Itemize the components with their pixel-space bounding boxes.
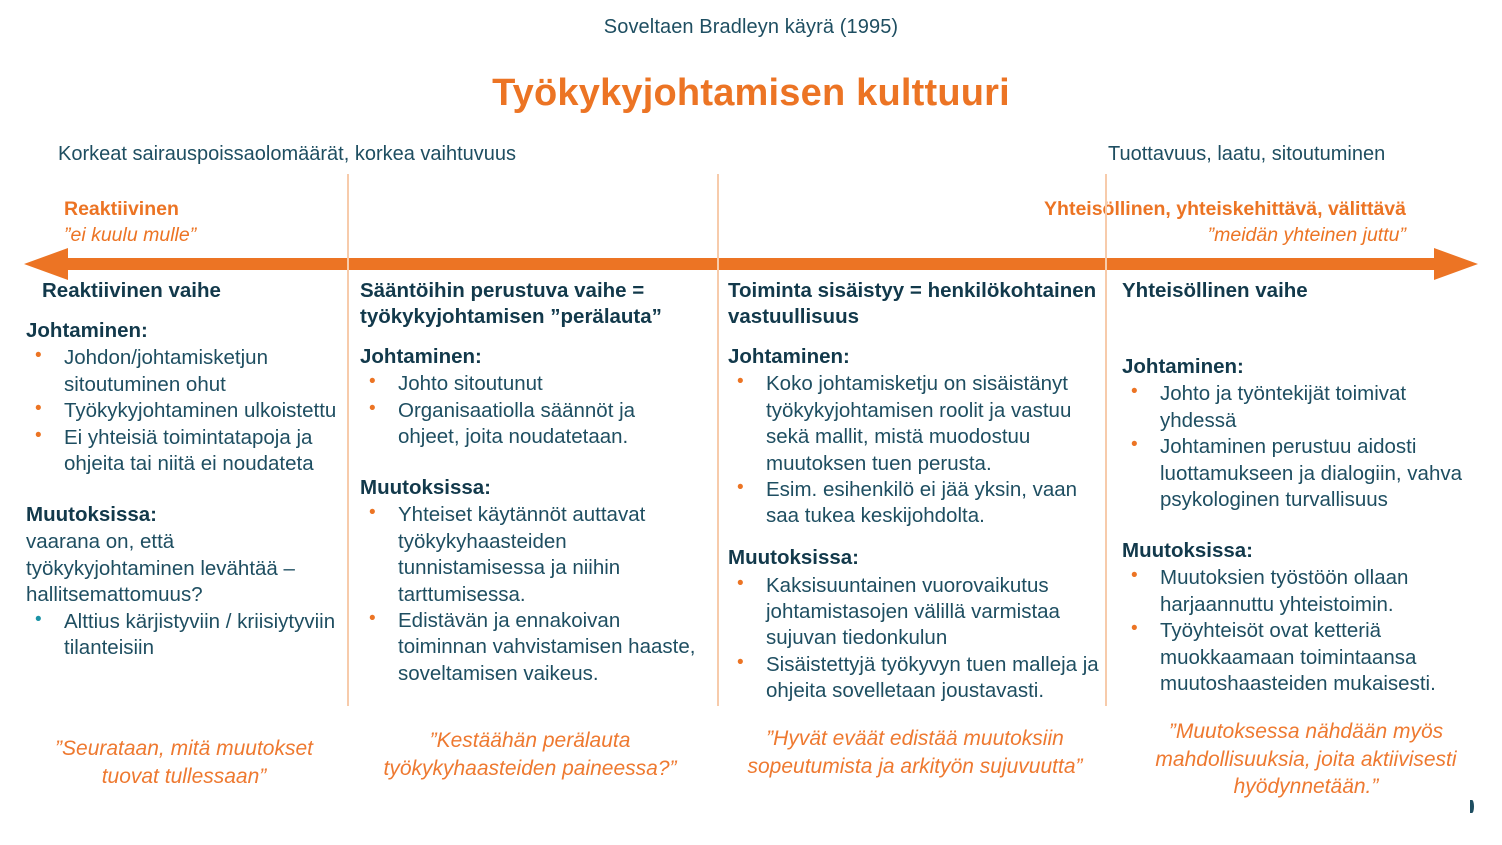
section-title: Johtaminen:: [26, 318, 342, 345]
column-quote-0: ”Seurataan, mitä muutokset tuovat tulles…: [38, 735, 330, 790]
axis-label-left: Korkeat sairauspoissaolomäärät, korkea v…: [58, 143, 516, 166]
stage-column-toiminta-sisaistyy: Toiminta sisäistyy = henkilökohtainen va…: [728, 278, 1100, 705]
slide: Soveltaen Bradleyn käyrä (1995) Työkykyj…: [0, 0, 1502, 845]
pole-left: Reaktiivinen ”ei kuulu mulle”: [64, 196, 196, 248]
section-title: Muutoksissa:: [26, 502, 342, 529]
section-johtaminen: Johtaminen: Johto sitoutunut Organisaati…: [360, 344, 700, 451]
section-muutoksissa: Muutoksissa: Muutoksien työstöön ollaan …: [1122, 538, 1486, 698]
section-title: Muutoksissa:: [728, 545, 1100, 572]
section-muutoksissa: Muutoksissa: vaarana on, että työkykyjoh…: [26, 502, 342, 662]
pole-right: Yhteisöllinen, yhteiskehittävä, välittäv…: [1044, 196, 1406, 248]
section-title: Johtaminen:: [1122, 354, 1486, 381]
stage-column-yhteisollinen: Yhteisöllinen vaihe Johtaminen: Johto ja…: [1122, 278, 1486, 697]
list-item: Organisaatiolla säännöt ja ohjeet, joita…: [360, 398, 700, 451]
section-muutoksissa: Muutoksissa: Yhteiset käytännöt auttavat…: [360, 475, 700, 688]
list-item: Yhteiset käytännöt auttavat työkykyhaast…: [360, 502, 700, 608]
list-item: Työyhteisöt ovat ketteriä muokkaamaan to…: [1122, 618, 1486, 697]
bullet-list: Alttius kärjistyviin / kriisiytyviin til…: [26, 609, 342, 662]
list-item: Koko johtamisketju on sisäistänyt työkyk…: [728, 371, 1100, 477]
column-quote-3: ”Muutoksessa nähdään myös mahdollisuuksi…: [1136, 718, 1476, 801]
bullet-list: Koko johtamisketju on sisäistänyt työkyk…: [728, 371, 1100, 530]
column-quote-1: ”Kestäähän perälauta työkykyhaasteiden p…: [370, 727, 690, 782]
corner-artifact-mark: [1470, 800, 1474, 813]
stage-column-reaktiivinen: Reaktiivinen vaihe Johtaminen: Johdon/jo…: [26, 278, 342, 661]
section-johtaminen: Johtaminen: Johdon/johtamisketjun sitout…: [26, 318, 342, 478]
pole-left-quote: ”ei kuulu mulle”: [64, 222, 196, 248]
bullet-list: Johdon/johtamisketjun sitoutuminen ohut …: [26, 345, 342, 477]
list-item: Johto ja työntekijät toimivat yhdessä: [1122, 381, 1486, 434]
section-johtaminen: Johtaminen: Koko johtamisketju on sisäis…: [728, 344, 1100, 530]
list-item: Kaksisuuntainen vuorovaikutus johtamista…: [728, 573, 1100, 652]
pole-right-title: Yhteisöllinen, yhteiskehittävä, välittäv…: [1044, 196, 1406, 222]
pole-left-title: Reaktiivinen: [64, 196, 196, 222]
source-attribution: Soveltaen Bradleyn käyrä (1995): [0, 16, 1502, 39]
section-title: Muutoksissa:: [360, 475, 700, 502]
section-johtaminen: Johtaminen: Johto ja työntekijät toimiva…: [1122, 354, 1486, 514]
bullet-list: Johto ja työntekijät toimivat yhdessä Jo…: [1122, 381, 1486, 513]
bullet-list: Yhteiset käytännöt auttavat työkykyhaast…: [360, 502, 700, 687]
section-muutoksissa: Muutoksissa: Kaksisuuntainen vuorovaikut…: [728, 545, 1100, 705]
list-item: Esim. esihenkilö ei jää yksin, vaan saa …: [728, 477, 1100, 530]
list-item: Johtaminen perustuu aidosti luottamuksee…: [1122, 434, 1486, 513]
list-item: Edistävän ja ennakoivan toiminnan vahvis…: [360, 608, 700, 687]
section-lead: vaarana on, että työkykyjohtaminen leväh…: [26, 529, 342, 608]
axis-label-right: Tuottavuus, laatu, sitoutuminen: [1108, 143, 1385, 166]
column-heading: Reaktiivinen vaihe: [26, 278, 342, 304]
list-item: Sisäistettyjä työkyvyn tuen malleja ja o…: [728, 652, 1100, 705]
bullet-list: Kaksisuuntainen vuorovaikutus johtamista…: [728, 573, 1100, 705]
column-quote-2: ”Hyvät eväät edistää muutoksiin sopeutum…: [740, 725, 1090, 780]
list-item: Johto sitoutunut: [360, 371, 700, 397]
list-item: Muutoksien työstöön ollaan harjaannuttu …: [1122, 565, 1486, 618]
section-title: Muutoksissa:: [1122, 538, 1486, 565]
page-title: Työkykyjohtamisen kulttuuri: [0, 72, 1502, 115]
column-heading: Toiminta sisäistyy = henkilökohtainen va…: [728, 278, 1100, 330]
list-item: Ei yhteisiä toimintatapoja ja ohjeita ta…: [26, 425, 342, 478]
list-item: Alttius kärjistyviin / kriisiytyviin til…: [26, 609, 342, 662]
list-item: Työkykyjohtaminen ulkoistettu: [26, 398, 342, 424]
double-headed-arrow-icon: [24, 248, 1478, 280]
section-title: Johtaminen:: [360, 344, 700, 371]
list-item: Johdon/johtamisketjun sitoutuminen ohut: [26, 345, 342, 398]
pole-right-quote: ”meidän yhteinen juttu”: [1044, 222, 1406, 248]
column-heading: Sääntöihin perustuva vaihe = työkykyjoht…: [360, 278, 700, 330]
bullet-list: Johto sitoutunut Organisaatiolla säännöt…: [360, 371, 700, 450]
stage-column-saantoihin-perustuva: Sääntöihin perustuva vaihe = työkykyjoht…: [360, 278, 700, 687]
bullet-list: Muutoksien työstöön ollaan harjaannuttu …: [1122, 565, 1486, 697]
section-title: Johtaminen:: [728, 344, 1100, 371]
column-heading: Yhteisöllinen vaihe: [1122, 278, 1486, 304]
